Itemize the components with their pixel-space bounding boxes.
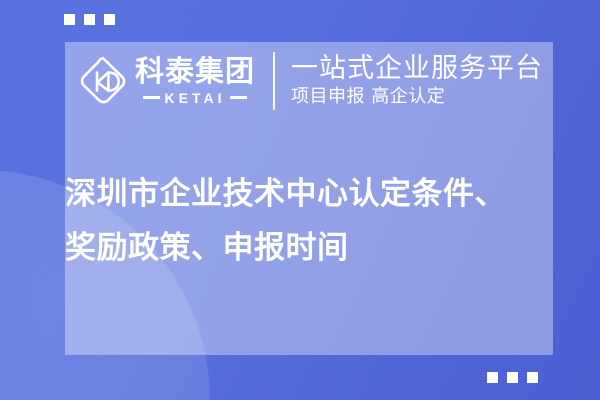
logo-wordmark: 科泰集团 KETAI — [135, 58, 255, 105]
logo-company-name-en: KETAI — [165, 91, 226, 105]
page-title-line-2: 奖励政策、申报时间 — [65, 221, 553, 275]
card-header: 科泰集团 KETAI 一站式企业服务平台 项目申报 高企认定 — [65, 42, 553, 120]
square-dot-icon — [104, 14, 115, 25]
promo-banner: 科泰集团 KETAI 一站式企业服务平台 项目申报 高企认定 深圳市企业技术中心… — [0, 0, 600, 400]
logo-rule-right-icon — [230, 96, 247, 99]
ketai-diamond-kd-mark-icon — [77, 55, 129, 107]
square-dot-icon — [527, 372, 538, 383]
logo-english-row: KETAI — [143, 91, 248, 105]
tagline-secondary: 项目申报 高企认定 — [291, 85, 543, 108]
tagline-primary: 一站式企业服务平台 — [291, 54, 543, 83]
logo-rule-left-icon — [143, 96, 160, 99]
square-dot-icon — [64, 14, 75, 25]
brand-logo[interactable]: 科泰集团 KETAI — [77, 55, 255, 107]
decorative-dots-bottom-right — [487, 372, 538, 383]
square-dot-icon — [84, 14, 95, 25]
tagline-block: 一站式企业服务平台 项目申报 高企认定 — [291, 54, 543, 109]
page-title: 深圳市企业技术中心认定条件、 奖励政策、申报时间 — [65, 167, 553, 275]
decorative-dots-top-left — [64, 14, 115, 25]
square-dot-icon — [487, 372, 498, 383]
square-dot-icon — [507, 372, 518, 383]
page-title-line-1: 深圳市企业技术中心认定条件、 — [65, 167, 553, 221]
content-card: 科泰集团 KETAI 一站式企业服务平台 项目申报 高企认定 深圳市企业技术中心… — [65, 42, 553, 355]
header-divider — [273, 52, 275, 110]
logo-company-name-cn: 科泰集团 — [135, 58, 255, 87]
